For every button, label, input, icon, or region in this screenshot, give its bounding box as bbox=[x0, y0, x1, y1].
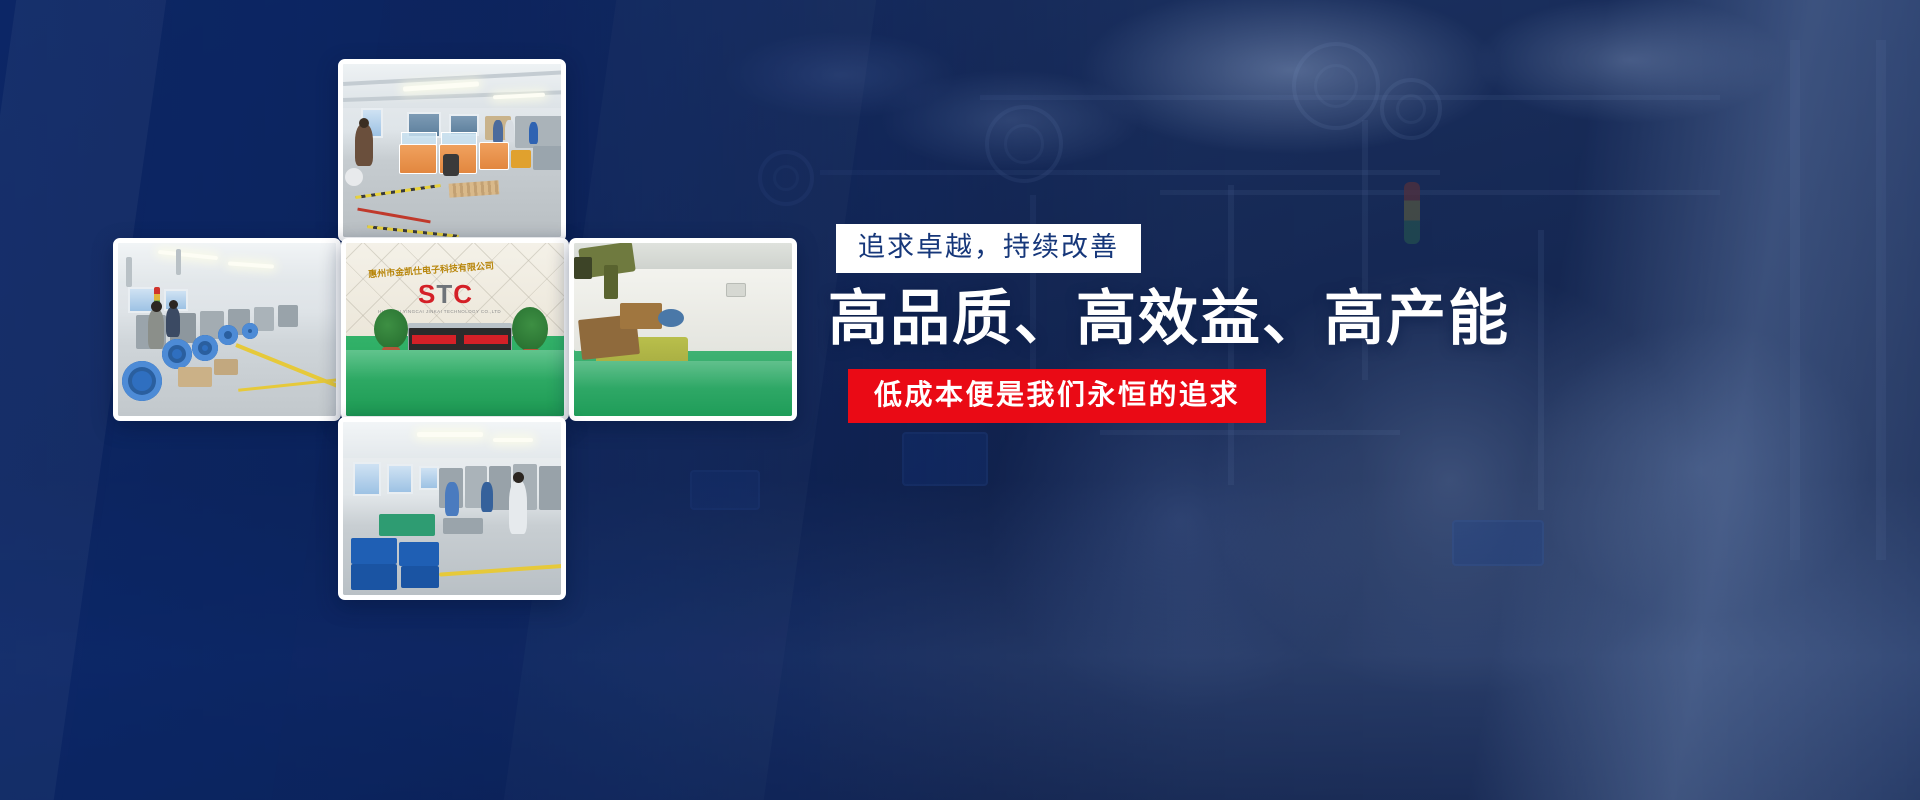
tagline-text: 追求卓越，持续改善 bbox=[858, 232, 1119, 263]
collage-photo-machine[interactable] bbox=[569, 238, 797, 421]
reception-logo: STC bbox=[418, 279, 473, 310]
tagline-box: 追求卓越，持续改善 bbox=[836, 224, 1141, 273]
subbanner-box: 低成本便是我们永恒的追求 bbox=[848, 369, 1266, 423]
collage-photo-production-line[interactable] bbox=[338, 417, 566, 600]
headline-text: 高品质、高效益、高产能 bbox=[828, 286, 1388, 353]
collage-photo-assembly-floor[interactable] bbox=[338, 59, 566, 242]
banner-text-block: 追求卓越，持续改善 高品质、高效益、高产能 低成本便是我们永恒的追求 bbox=[828, 224, 1388, 423]
photo-collage: 惠州市金凯仕电子科技有限公司 STC HUIZHOU YINGCAI JINKA… bbox=[0, 0, 820, 800]
collage-photo-reception[interactable]: 惠州市金凯仕电子科技有限公司 STC HUIZHOU YINGCAI JINKA… bbox=[341, 238, 569, 421]
hero-banner: 惠州市金凯仕电子科技有限公司 STC HUIZHOU YINGCAI JINKA… bbox=[0, 0, 1920, 800]
photo-scene bbox=[343, 422, 561, 595]
photo-scene bbox=[343, 64, 561, 237]
photo-scene bbox=[574, 243, 792, 416]
collage-photo-winding-workshop[interactable] bbox=[113, 238, 341, 421]
photo-scene: 惠州市金凯仕电子科技有限公司 STC HUIZHOU YINGCAI JINKA… bbox=[346, 243, 564, 416]
photo-scene bbox=[118, 243, 336, 416]
subbanner-text: 低成本便是我们永恒的追求 bbox=[874, 378, 1240, 411]
